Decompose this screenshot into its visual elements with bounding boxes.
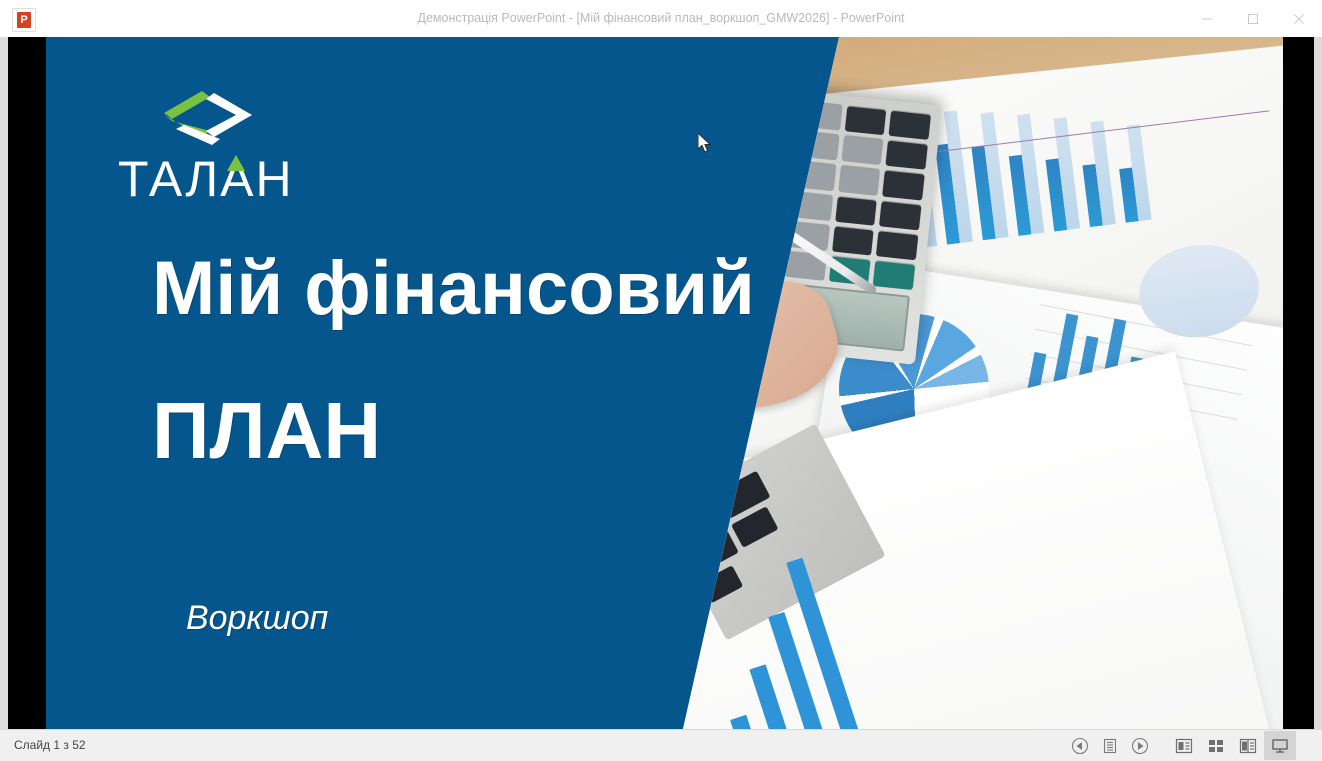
normal-view-icon — [1175, 738, 1193, 754]
slide-show-icon — [1271, 738, 1289, 754]
view-buttons-group — [1168, 731, 1296, 760]
finance-desk-photo — [683, 37, 1283, 729]
talan-logo-accent — [227, 155, 245, 171]
maximize-icon — [1247, 13, 1259, 25]
maximize-button[interactable] — [1230, 0, 1276, 37]
status-bar-end-spacer — [1296, 731, 1322, 760]
slide-sorter-button[interactable] — [1200, 731, 1232, 760]
slide-counter: Слайд 1 з 52 — [14, 730, 86, 761]
left-edge-strip — [0, 37, 8, 729]
previous-slide-icon — [1071, 737, 1089, 755]
next-slide-icon — [1131, 737, 1149, 755]
chevron-logo-mark-icon — [162, 89, 254, 153]
status-bar: Слайд 1 з 52 — [0, 729, 1322, 761]
powerpoint-slideshow-window: P Демонстрація PowerPoint - [Мій фінансо… — [0, 0, 1322, 760]
slide-show-button[interactable] — [1264, 731, 1296, 760]
slide-title-line-1: Мій фінансовий — [152, 249, 755, 329]
minimize-icon — [1201, 13, 1213, 25]
slide-subtitle: Воркшоп — [186, 599, 328, 638]
next-slide-button[interactable] — [1126, 732, 1154, 760]
normal-view-button[interactable] — [1168, 731, 1200, 760]
status-bar-right — [1066, 730, 1322, 761]
slideshow-menu-button[interactable] — [1096, 732, 1124, 760]
reading-view-button[interactable] — [1232, 731, 1264, 760]
slideshow-menu-icon — [1101, 737, 1119, 755]
mouse-pointer — [698, 133, 714, 155]
slideshow-canvas[interactable]: ТАЛАН Мій фінансовий ПЛАН Воркшоп — [0, 37, 1322, 729]
right-edge-strip — [1314, 37, 1322, 729]
slideshow-nav-group — [1066, 732, 1154, 760]
slide-sorter-icon — [1207, 738, 1225, 754]
window-controls — [1184, 0, 1322, 37]
window-title: Демонстрація PowerPoint - [Мій фінансови… — [0, 0, 1322, 37]
title-bar: P Демонстрація PowerPoint - [Мій фінансо… — [0, 0, 1322, 38]
close-icon — [1293, 13, 1305, 25]
talan-logo: ТАЛАН — [118, 89, 304, 211]
minimize-button[interactable] — [1184, 0, 1230, 37]
talan-wordmark: ТАЛАН — [118, 151, 304, 207]
reading-view-icon — [1239, 738, 1257, 754]
slide-title-line-2: ПЛАН — [152, 389, 381, 473]
close-button[interactable] — [1276, 0, 1322, 37]
slide-1[interactable]: ТАЛАН Мій фінансовий ПЛАН Воркшоп — [46, 37, 1283, 729]
previous-slide-button[interactable] — [1066, 732, 1094, 760]
